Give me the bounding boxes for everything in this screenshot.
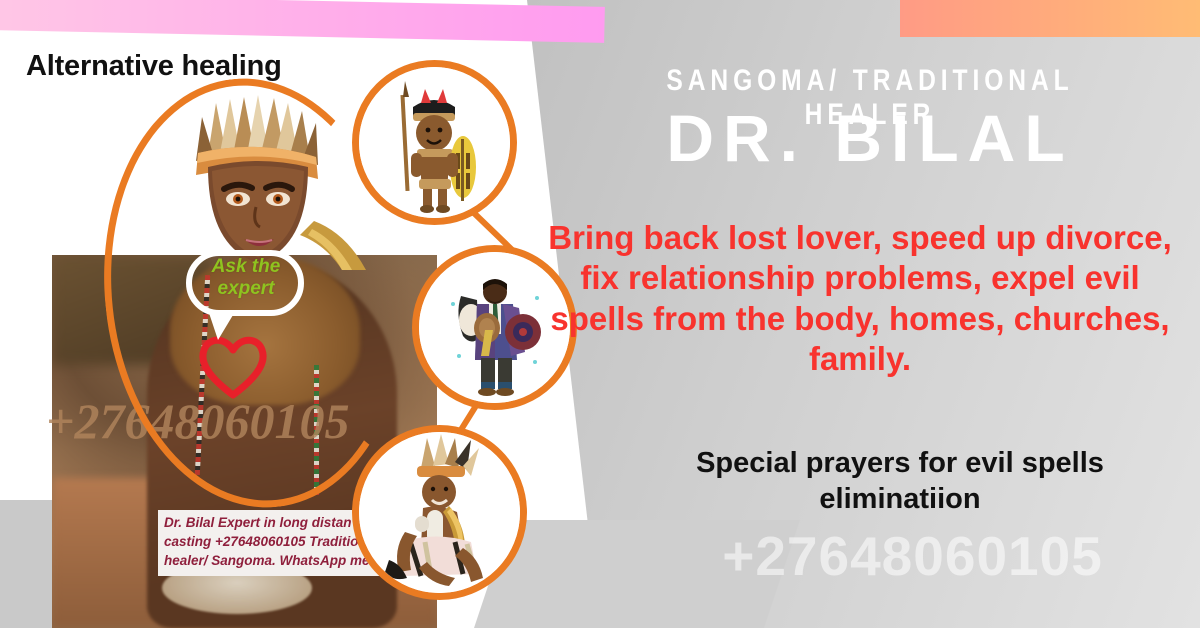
- services-black-text: Special prayers for evil spells eliminat…: [620, 445, 1180, 518]
- poster-canvas: +27648060105 Ask the expert Dr. Bilal Ex…: [0, 0, 1200, 628]
- doctor-name-title: DR. BILAL: [560, 104, 1180, 173]
- zulu-dancer-illustration: [359, 432, 520, 593]
- pink-accent-bar: [0, 0, 605, 43]
- services-red-text: Bring back lost lover, speed up divorce,…: [545, 218, 1175, 379]
- caption-line-2: casting +27648060105 Traditio: [164, 532, 384, 551]
- caption-line-3: healer/ Sangoma. WhatsApp me: [164, 551, 384, 570]
- circle-zulu-warrior: [352, 60, 517, 225]
- orange-accent-bar: [900, 0, 1200, 37]
- circle-zulu-dancer: [352, 425, 527, 600]
- caption-line-1: Dr. Bilal Expert in long distan: [164, 513, 384, 532]
- zulu-warrior-illustration: [359, 67, 510, 218]
- page-title: Alternative healing: [26, 50, 282, 83]
